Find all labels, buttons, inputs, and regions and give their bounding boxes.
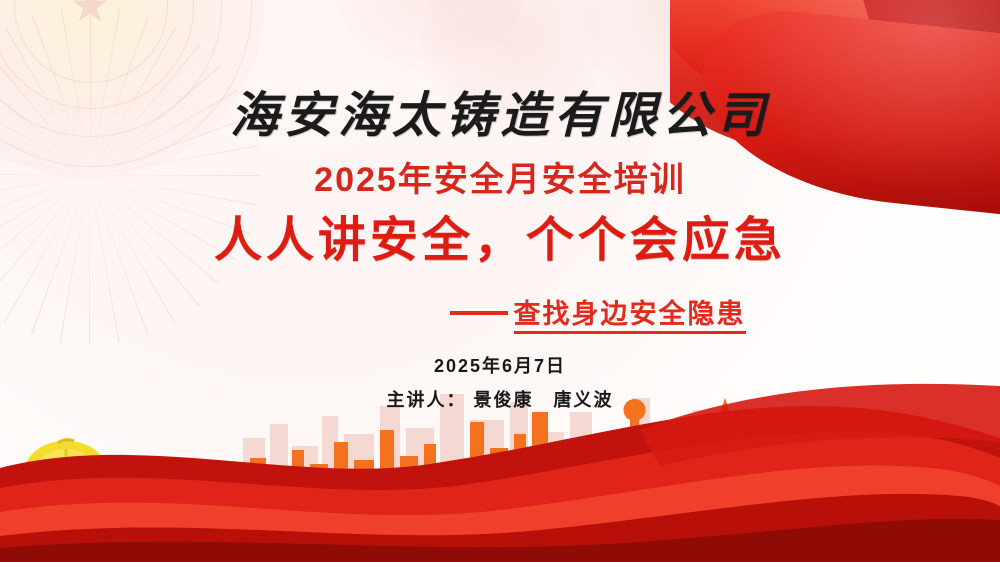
safety-slogan: 人人讲安全，个个会应急 <box>0 200 1000 270</box>
tagline-text: 查找身边安全隐患 <box>514 299 746 334</box>
presenter-names: 主讲人： 景俊康 唐义波 <box>0 386 1000 412</box>
slide-text-content: 海安海太铸造有限公司 2025年安全月安全培训 人人讲安全，个个会应急 查找身边… <box>0 0 1000 562</box>
company-name: 海安海太铸造有限公司 <box>0 76 1000 147</box>
presentation-slide: ★ <box>0 0 1000 562</box>
training-subtitle: 2025年安全月安全培训 <box>0 152 1000 201</box>
tagline-row: 查找身边安全隐患 <box>0 292 1000 331</box>
presentation-date: 2025年6月7日 <box>0 352 1000 378</box>
tagline-dash <box>450 311 508 315</box>
